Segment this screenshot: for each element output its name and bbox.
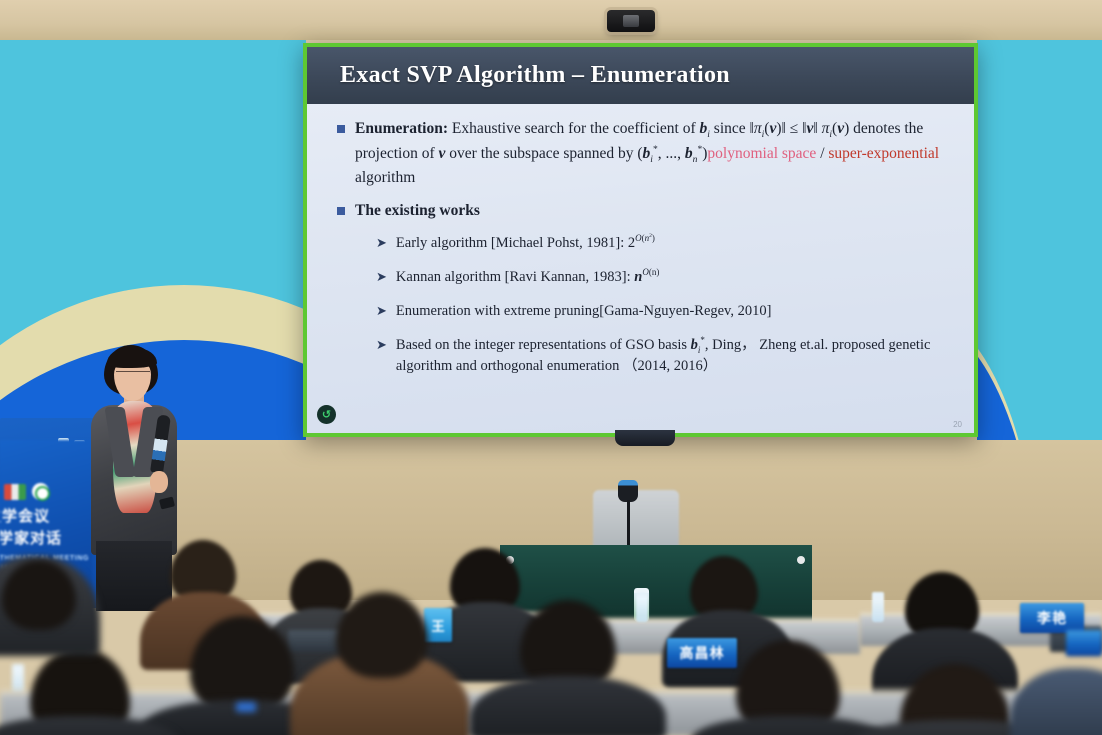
audience-head — [336, 592, 428, 678]
slide-header: Exact SVP Algorithm – Enumeration — [307, 47, 974, 104]
list-item-text: Enumeration with extreme pruning[Gama-Ng… — [396, 301, 772, 322]
slide-page-number: 20 — [953, 420, 962, 429]
laptop — [288, 630, 342, 652]
arrow-bullet-icon: ➤ — [376, 267, 387, 288]
nameplate — [1066, 630, 1102, 656]
slide-bullet: Enumeration: Exhaustive search for the c… — [337, 117, 948, 191]
slide-bullet: The existing works — [337, 199, 948, 224]
glasses-icon — [116, 371, 150, 379]
audience-shoulders — [470, 676, 666, 735]
audience-shoulders — [1010, 668, 1102, 735]
slide-sub-list: ➤ Early algorithm [Michael Pohst, 1981]:… — [337, 233, 948, 377]
projection-screen[interactable]: Exact SVP Algorithm – Enumeration Enumer… — [303, 43, 978, 437]
slide-corner-logo-icon: ↺ — [317, 405, 336, 424]
nameplate: 高昌林 — [667, 638, 737, 668]
list-item: ➤ Kannan algorithm [Ravi Kannan, 1983]: … — [376, 267, 948, 288]
presenter-fringe — [107, 348, 157, 368]
screen-mount — [615, 430, 675, 446]
bullet-label: Enumeration: — [355, 120, 448, 137]
presenter-hand — [150, 471, 168, 493]
presenter-skirt — [96, 541, 172, 611]
bullet-label: The existing works — [355, 202, 480, 219]
square-bullet-icon — [337, 207, 345, 215]
stage-backdrop-right — [977, 40, 1102, 440]
wall-top-trim — [0, 0, 1102, 40]
list-item: ➤ Early algorithm [Michael Pohst, 1981]:… — [376, 233, 948, 254]
list-item-text: Based on the integer representations of … — [396, 335, 948, 377]
table-cloth-pin — [797, 556, 805, 564]
lecture-hall-photo: 数学会议 数学家对话 MATHEMATICAL MEETING TICIANS … — [0, 0, 1102, 735]
table-microphone-head — [618, 480, 638, 502]
presentation-slide: Exact SVP Algorithm – Enumeration Enumer… — [307, 47, 974, 433]
flag-logo-icon — [4, 484, 26, 500]
slide-bullet-text: The existing works — [355, 199, 480, 224]
slide-title: Exact SVP Algorithm – Enumeration — [307, 62, 730, 89]
backdrop-blue-wave — [977, 316, 1040, 440]
list-item-text: Kannan algorithm [Ravi Kannan, 1983]: nO… — [396, 267, 659, 288]
banner-logos — [4, 483, 49, 500]
list-item: ➤ Enumeration with extreme pruning[Gama-… — [376, 301, 948, 322]
arrow-bullet-icon: ➤ — [376, 233, 387, 254]
square-bullet-icon — [337, 125, 345, 133]
slide-bullet-text: Enumeration: Exhaustive search for the c… — [355, 117, 948, 191]
nameplate: 李艳 — [1020, 603, 1084, 633]
circle-logo-icon — [32, 483, 49, 500]
slide-body: Enumeration: Exhaustive search for the c… — [307, 104, 974, 377]
banner-title-cn-2: 数学家对话 — [0, 528, 62, 548]
list-item: ➤ Based on the integer representations o… — [376, 335, 948, 377]
arrow-bullet-icon: ➤ — [376, 335, 387, 377]
arrow-bullet-icon: ➤ — [376, 301, 387, 322]
water-bottle — [872, 592, 884, 622]
projector-camera-unit — [607, 10, 655, 32]
lanyard-badge — [236, 702, 256, 712]
banner-title-cn-1: 数学会议 — [0, 506, 50, 526]
list-item-text: Early algorithm [Michael Pohst, 1981]: 2… — [396, 233, 655, 254]
water-bottle — [636, 592, 648, 622]
slide-logo-glyph: ↺ — [322, 408, 331, 421]
nameplate: 王 — [424, 608, 452, 642]
